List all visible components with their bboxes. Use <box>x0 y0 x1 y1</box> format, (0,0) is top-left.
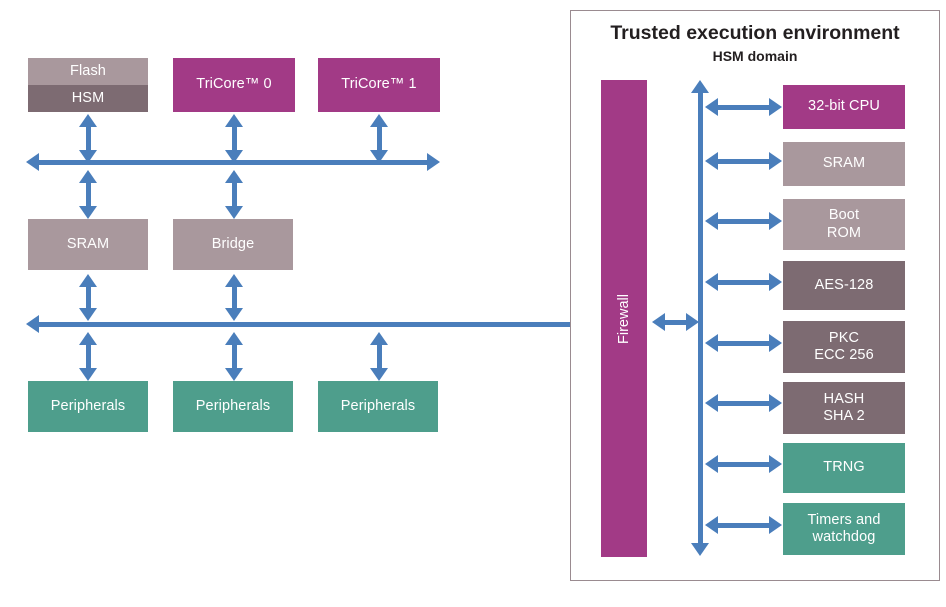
block-hsm-cpu: 32-bit CPU <box>783 85 905 129</box>
block-hsm-sram-label: SRAM <box>823 155 865 172</box>
block-hsm-pkc-label: PKC ECC 256 <box>814 330 874 365</box>
block-tricore-1: TriCore™ 1 <box>318 58 440 112</box>
block-hsm-cpu-label: 32-bit CPU <box>808 98 880 115</box>
tee-panel-title: Trusted execution environment <box>570 22 940 45</box>
block-bridge: Bridge <box>173 219 293 270</box>
block-peripherals-1-label: Peripherals <box>196 398 270 415</box>
block-firewall: Firewall <box>601 80 647 557</box>
block-hsm-hash: HASH SHA 2 <box>783 382 905 434</box>
tee-panel-subtitle: HSM domain <box>570 48 940 64</box>
block-flash-label: Flash <box>70 63 106 80</box>
block-tricore-1-label: TriCore™ 1 <box>341 76 416 93</box>
block-flash: Flash <box>28 58 148 85</box>
block-hsm-trng-label: TRNG <box>823 459 864 476</box>
block-bridge-label: Bridge <box>212 236 255 253</box>
block-hsm-sram: SRAM <box>783 142 905 186</box>
block-sram: SRAM <box>28 219 148 270</box>
block-peripherals-2: Peripherals <box>318 381 438 432</box>
block-hsm-trng: TRNG <box>783 443 905 493</box>
block-hsm-timers-watchdog: Timers and watchdog <box>783 503 905 555</box>
block-hsm-aes-label: AES-128 <box>815 277 874 294</box>
block-hsm: HSM <box>28 85 148 112</box>
block-hsm-timers-watchdog-label: Timers and watchdog <box>808 512 881 547</box>
block-hsm-pkc: PKC ECC 256 <box>783 321 905 373</box>
block-peripherals-1: Peripherals <box>173 381 293 432</box>
block-peripherals-0: Peripherals <box>28 381 148 432</box>
diagram-canvas: Flash HSM TriCore™ 0 TriCore™ 1 <box>0 0 946 607</box>
block-peripherals-0-label: Peripherals <box>51 398 125 415</box>
block-firewall-label: Firewall <box>616 294 632 344</box>
block-hsm-label: HSM <box>72 90 105 107</box>
block-hsm-hash-label: HASH SHA 2 <box>823 391 865 426</box>
block-tricore-0: TriCore™ 0 <box>173 58 295 112</box>
block-hsm-boot-rom: Boot ROM <box>783 199 905 250</box>
block-hsm-boot-rom-label: Boot ROM <box>827 207 861 242</box>
block-tricore-0-label: TriCore™ 0 <box>196 76 271 93</box>
block-peripherals-2-label: Peripherals <box>341 398 415 415</box>
block-hsm-aes: AES-128 <box>783 261 905 310</box>
block-sram-label: SRAM <box>67 236 109 253</box>
